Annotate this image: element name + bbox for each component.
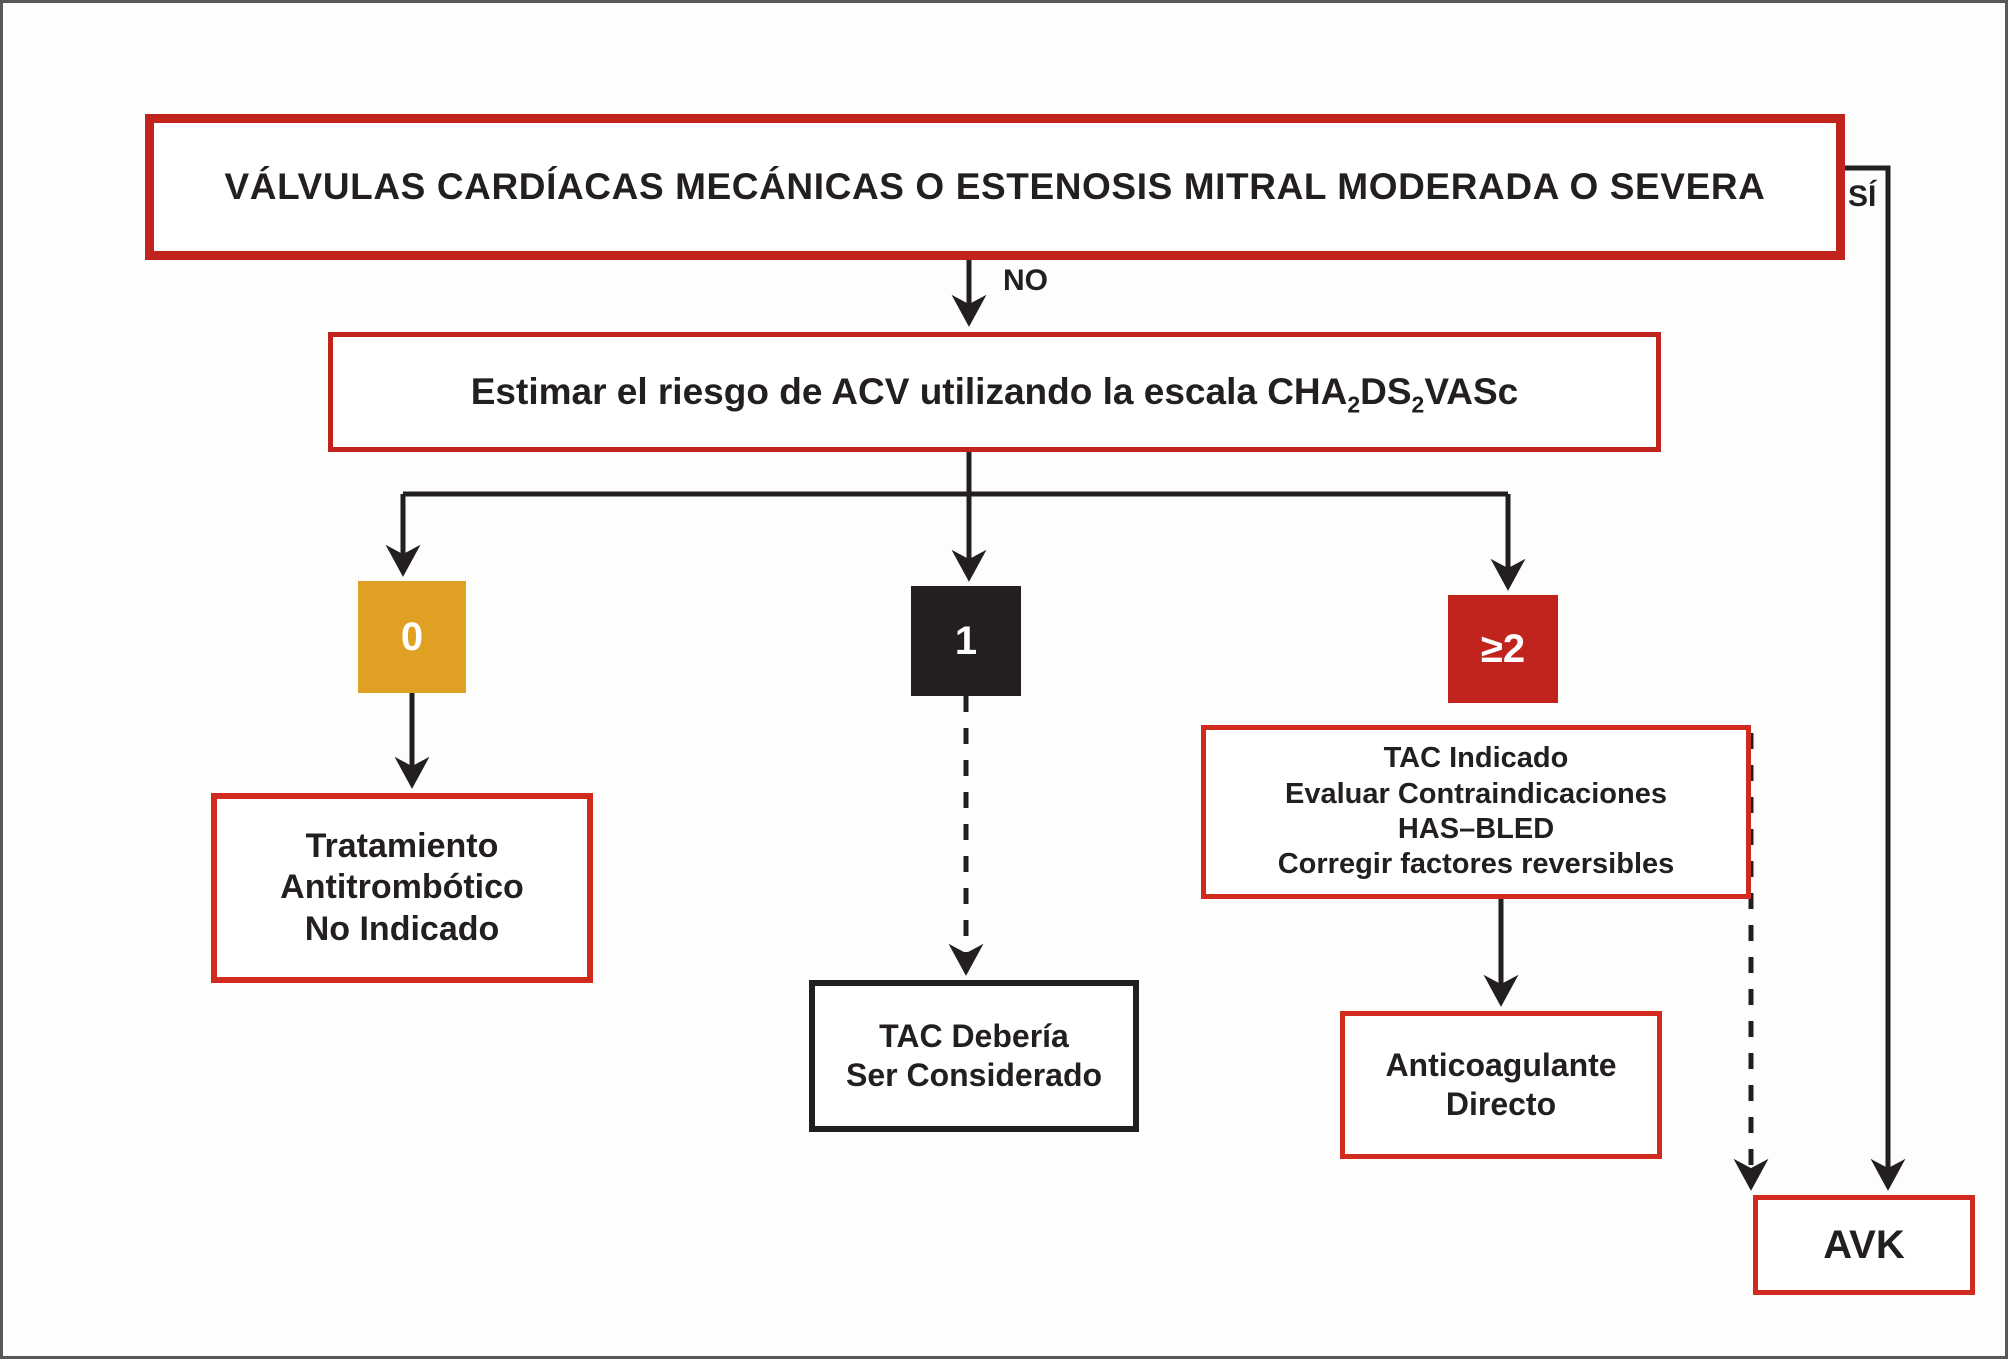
edge-label-no: NO bbox=[1003, 264, 1048, 298]
score-chip-2-or-more[interactable]: ≥2 bbox=[1448, 595, 1558, 703]
text-line: No Indicado bbox=[217, 909, 587, 950]
text-line: HAS–BLED bbox=[1206, 812, 1746, 847]
node-mechanical-valves[interactable]: VÁLVULAS CARDÍACAS MECÁNICAS O ESTENOSIS… bbox=[145, 114, 1845, 260]
score-text-mid: DS bbox=[1360, 371, 1411, 412]
edge-title-si-to-avk bbox=[1845, 168, 1888, 1185]
node-estimate-stroke-risk[interactable]: Estimar el riesgo de ACV utilizando la e… bbox=[328, 332, 1661, 452]
node-avk[interactable]: AVK bbox=[1753, 1195, 1975, 1295]
node-tac-should-be-considered[interactable]: TAC Debería Ser Considerado bbox=[809, 980, 1139, 1132]
text-line: Evaluar Contraindicaciones bbox=[1206, 777, 1746, 812]
edge-label-si: SÍ bbox=[1848, 180, 1876, 214]
text-line: Corregir factores reversibles bbox=[1206, 847, 1746, 882]
text-line: Anticoagulante bbox=[1345, 1046, 1657, 1085]
node-estimate-stroke-risk-label: Estimar el riesgo de ACV utilizando la e… bbox=[333, 369, 1656, 414]
text-line: Directo bbox=[1345, 1085, 1657, 1124]
text-line: TAC Indicado bbox=[1206, 741, 1746, 776]
node-direct-anticoagulant-label: Anticoagulante Directo bbox=[1345, 1046, 1657, 1124]
score-chip-1[interactable]: 1 bbox=[911, 586, 1021, 696]
score-text-post: VASc bbox=[1424, 371, 1518, 412]
score-text-pre: Estimar el riesgo de ACV utilizando la e… bbox=[471, 371, 1348, 412]
node-no-antithrombotic-treatment[interactable]: Tratamiento Antitrombótico No Indicado bbox=[211, 793, 593, 983]
node-avk-label: AVK bbox=[1758, 1221, 1970, 1270]
text-line: Tratamiento bbox=[217, 826, 587, 867]
node-tac-should-be-considered-label: TAC Debería Ser Considerado bbox=[815, 1017, 1133, 1095]
node-no-antithrombotic-treatment-label: Tratamiento Antitrombótico No Indicado bbox=[217, 826, 587, 950]
node-direct-anticoagulant[interactable]: Anticoagulante Directo bbox=[1340, 1011, 1662, 1159]
score-chip-0[interactable]: 0 bbox=[358, 581, 466, 693]
node-mechanical-valves-label: VÁLVULAS CARDÍACAS MECÁNICAS O ESTENOSIS… bbox=[154, 164, 1836, 209]
text-line: TAC Debería bbox=[815, 1017, 1133, 1056]
node-tac-indicated[interactable]: TAC Indicado Evaluar Contraindicaciones … bbox=[1201, 725, 1751, 899]
score-chip-0-label: 0 bbox=[358, 613, 466, 662]
text-line: Ser Considerado bbox=[815, 1056, 1133, 1095]
score-subscript-2: 2 bbox=[1412, 392, 1425, 418]
text-line: Antitrombótico bbox=[217, 867, 587, 908]
score-subscript-1: 2 bbox=[1347, 392, 1360, 418]
flowchart-canvas: VÁLVULAS CARDÍACAS MECÁNICAS O ESTENOSIS… bbox=[0, 0, 2008, 1359]
score-chip-2-or-more-label: ≥2 bbox=[1448, 625, 1558, 674]
node-tac-indicated-label: TAC Indicado Evaluar Contraindicaciones … bbox=[1206, 741, 1746, 883]
score-chip-1-label: 1 bbox=[911, 617, 1021, 666]
